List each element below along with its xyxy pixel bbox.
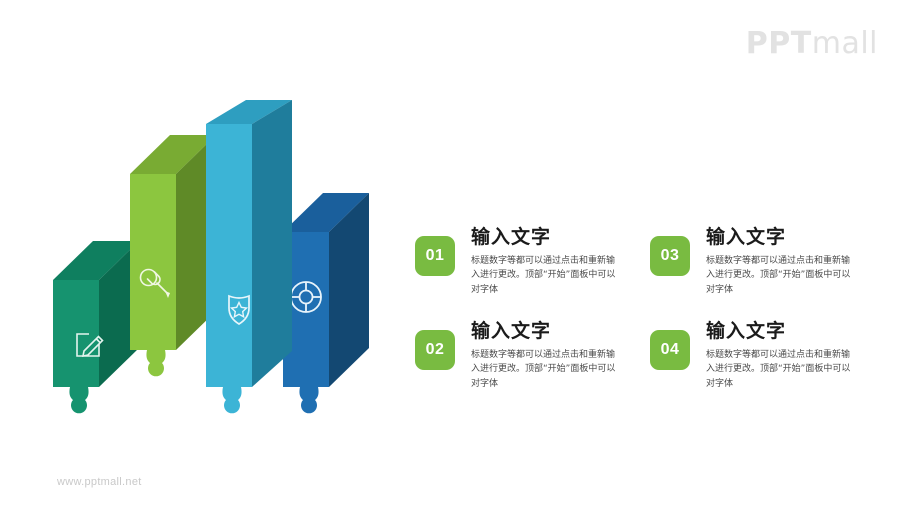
bar-03-lightblue	[206, 100, 292, 413]
item-title-02: 输入文字	[471, 320, 621, 343]
item-badge-04: 04	[650, 330, 690, 370]
content-item-02[interactable]: 02 输入文字 标题数字等都可以通过点击和重新输入进行更改。顶部“开始”面板中可…	[415, 320, 640, 392]
bar-01-teal	[53, 241, 139, 413]
item-badge-02: 02	[415, 330, 455, 370]
item-badge-01: 01	[415, 236, 455, 276]
three-d-bar-chart	[0, 0, 420, 506]
item-text-block-03: 输入文字 标题数字等都可以通过点击和重新输入进行更改。顶部“开始”面板中可以对字…	[706, 226, 856, 298]
content-item-01[interactable]: 01 输入文字 标题数字等都可以通过点击和重新输入进行更改。顶部“开始”面板中可…	[415, 226, 640, 298]
item-body-02: 标题数字等都可以通过点击和重新输入进行更改。顶部“开始”面板中可以对字体	[471, 348, 621, 392]
content-item-03[interactable]: 03 输入文字 标题数字等都可以通过点击和重新输入进行更改。顶部“开始”面板中可…	[650, 226, 875, 298]
item-text-block-04: 输入文字 标题数字等都可以通过点击和重新输入进行更改。顶部“开始”面板中可以对字…	[706, 320, 856, 392]
pptmall-logo: PPTmall	[746, 26, 878, 61]
logo-ppt-text: PPT	[746, 26, 812, 61]
item-body-01: 标题数字等都可以通过点击和重新输入进行更改。顶部“开始”面板中可以对字体	[471, 254, 621, 298]
content-item-04[interactable]: 04 输入文字 标题数字等都可以通过点击和重新输入进行更改。顶部“开始”面板中可…	[650, 320, 875, 392]
logo-mall-text: mall	[812, 26, 878, 61]
bar-04-darkblue	[283, 193, 369, 413]
item-title-03: 输入文字	[706, 226, 856, 249]
item-title-01: 输入文字	[471, 226, 621, 249]
item-body-03: 标题数字等都可以通过点击和重新输入进行更改。顶部“开始”面板中可以对字体	[706, 254, 856, 298]
item-title-04: 输入文字	[706, 320, 856, 343]
item-text-block-01: 输入文字 标题数字等都可以通过点击和重新输入进行更改。顶部“开始”面板中可以对字…	[471, 226, 621, 298]
item-body-04: 标题数字等都可以通过点击和重新输入进行更改。顶部“开始”面板中可以对字体	[706, 348, 856, 392]
content-items-grid: 01 输入文字 标题数字等都可以通过点击和重新输入进行更改。顶部“开始”面板中可…	[415, 210, 885, 430]
footer-url: www.pptmall.net	[57, 476, 142, 488]
item-text-block-02: 输入文字 标题数字等都可以通过点击和重新输入进行更改。顶部“开始”面板中可以对字…	[471, 320, 621, 392]
item-badge-03: 03	[650, 236, 690, 276]
bar-02-green	[130, 135, 216, 376]
